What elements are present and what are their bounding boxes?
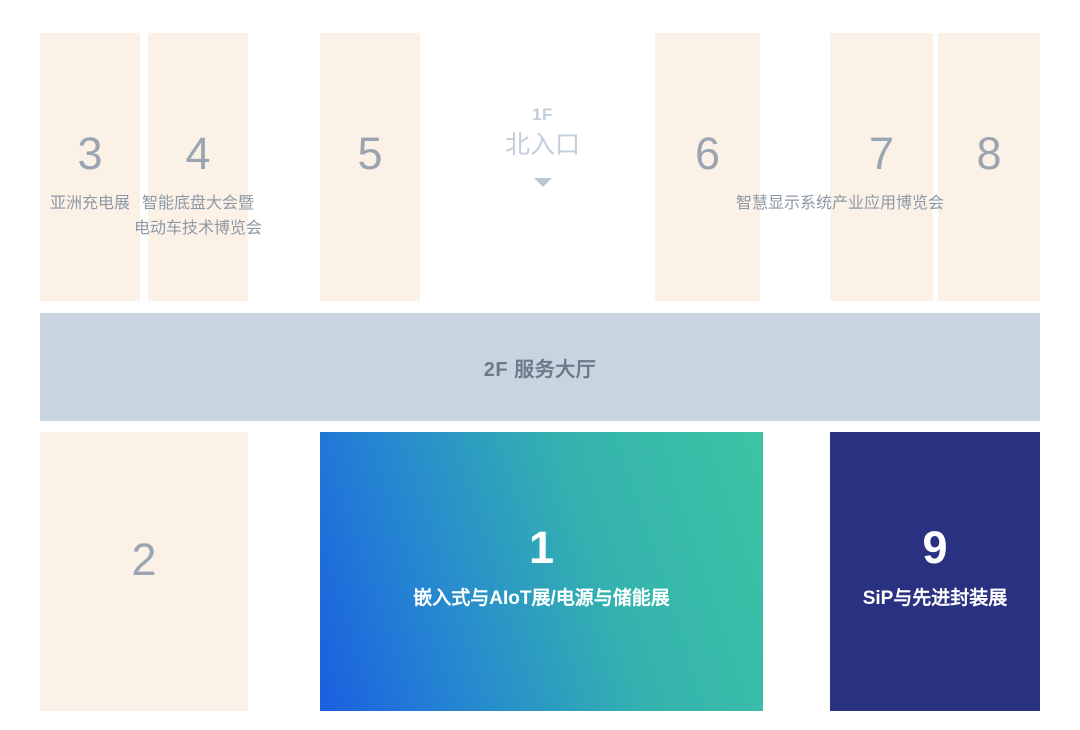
entrance-name-label: 北入口: [455, 127, 630, 163]
hall-number-6: 6: [655, 131, 760, 176]
hall-label-4-line1: 智能底盘大会暨: [108, 192, 288, 217]
entrance-marker-north[interactable]: 1F 北入口: [455, 105, 630, 187]
hall-label-9: SiP与先进封装展: [824, 584, 1046, 613]
entrance-floor-label: 1F: [455, 105, 630, 125]
hall-block-4[interactable]: 4: [148, 33, 248, 301]
hall-number-7: 7: [830, 131, 933, 176]
hall-block-7[interactable]: 7: [830, 33, 933, 301]
hall-block-8[interactable]: 8: [938, 33, 1040, 301]
hall-label-1: 嵌入式与AIoT展/电源与储能展: [320, 584, 763, 613]
hall-block-9[interactable]: 9 SiP与先进封装展: [830, 432, 1040, 711]
hall-number-4: 4: [148, 131, 248, 176]
hall-number-1: 1: [320, 525, 763, 570]
service-hall-label: 2F 服务大厅: [484, 353, 596, 382]
hall-number-8: 8: [938, 131, 1040, 176]
triangle-down-icon: [534, 178, 552, 187]
hall-block-3[interactable]: 3: [40, 33, 140, 301]
hall-number-3: 3: [40, 131, 140, 176]
hall-block-1[interactable]: 1 嵌入式与AIoT展/电源与储能展: [320, 432, 763, 711]
exhibition-floor-map: 3 亚洲充电展 4 智能底盘大会暨 电动车技术博览会 5 1F 北入口 6 7 …: [0, 0, 1080, 730]
service-hall-banner-2f[interactable]: 2F 服务大厅: [40, 313, 1040, 421]
hall-block-2[interactable]: 2: [40, 432, 248, 711]
hall-number-2: 2: [40, 537, 248, 582]
hall-group-label-678: 智慧显示系统产业应用博览会: [640, 192, 1040, 217]
hall-block-5[interactable]: 5: [320, 33, 420, 301]
hall-block-6[interactable]: 6: [655, 33, 760, 301]
hall-number-9: 9: [830, 525, 1040, 570]
hall-label-4-line2: 电动车技术博览会: [108, 217, 288, 242]
hall-number-5: 5: [320, 131, 420, 176]
